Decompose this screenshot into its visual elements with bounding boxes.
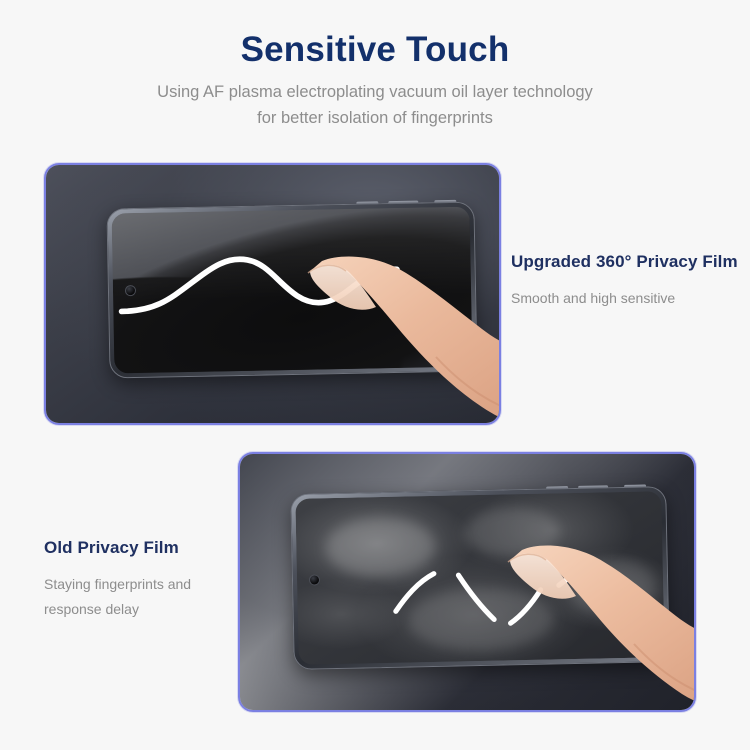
annotation-upgraded: Upgraded 360° Privacy Film Smooth and hi… (511, 252, 738, 311)
phone-device-old (290, 486, 670, 670)
page-subtitle-line-1: Using AF plasma electroplating vacuum oi… (0, 80, 750, 106)
page-subtitle-line-2: for better isolation of fingerprints (0, 106, 750, 132)
annotation-upgraded-heading: Upgraded 360° Privacy Film (511, 252, 738, 272)
annotation-upgraded-description-line: Smooth and high sensitive (511, 286, 738, 311)
annotation-old-description: Staying fingerprints and response delay (44, 572, 191, 621)
phone-volume-button (578, 485, 608, 489)
old-privacy-film-panel (238, 452, 696, 712)
swipe-trail-broken (295, 491, 664, 660)
phone-side-button (356, 201, 378, 204)
phone-screen-smudged (295, 491, 664, 665)
upgraded-privacy-film-panel (44, 163, 501, 425)
phone-power-button (434, 200, 456, 203)
phone-volume-button (388, 201, 418, 205)
annotation-old-description-line-1: Staying fingerprints and (44, 572, 191, 597)
phone-power-button (624, 485, 646, 488)
annotation-old: Old Privacy Film Staying fingerprints an… (44, 538, 191, 621)
annotation-old-heading: Old Privacy Film (44, 538, 191, 558)
swipe-trail-smooth (111, 207, 472, 369)
header: Sensitive Touch Using AF plasma electrop… (0, 30, 750, 131)
phone-device-upgraded (106, 201, 477, 378)
phone-screen-clean (111, 207, 472, 374)
page-title: Sensitive Touch (0, 30, 750, 70)
annotation-old-description-line-2: response delay (44, 597, 191, 622)
marketing-banner: Sensitive Touch Using AF plasma electrop… (0, 0, 750, 750)
annotation-upgraded-description: Smooth and high sensitive (511, 286, 738, 311)
page-subtitle: Using AF plasma electroplating vacuum oi… (0, 80, 750, 131)
phone-side-button (546, 486, 568, 489)
